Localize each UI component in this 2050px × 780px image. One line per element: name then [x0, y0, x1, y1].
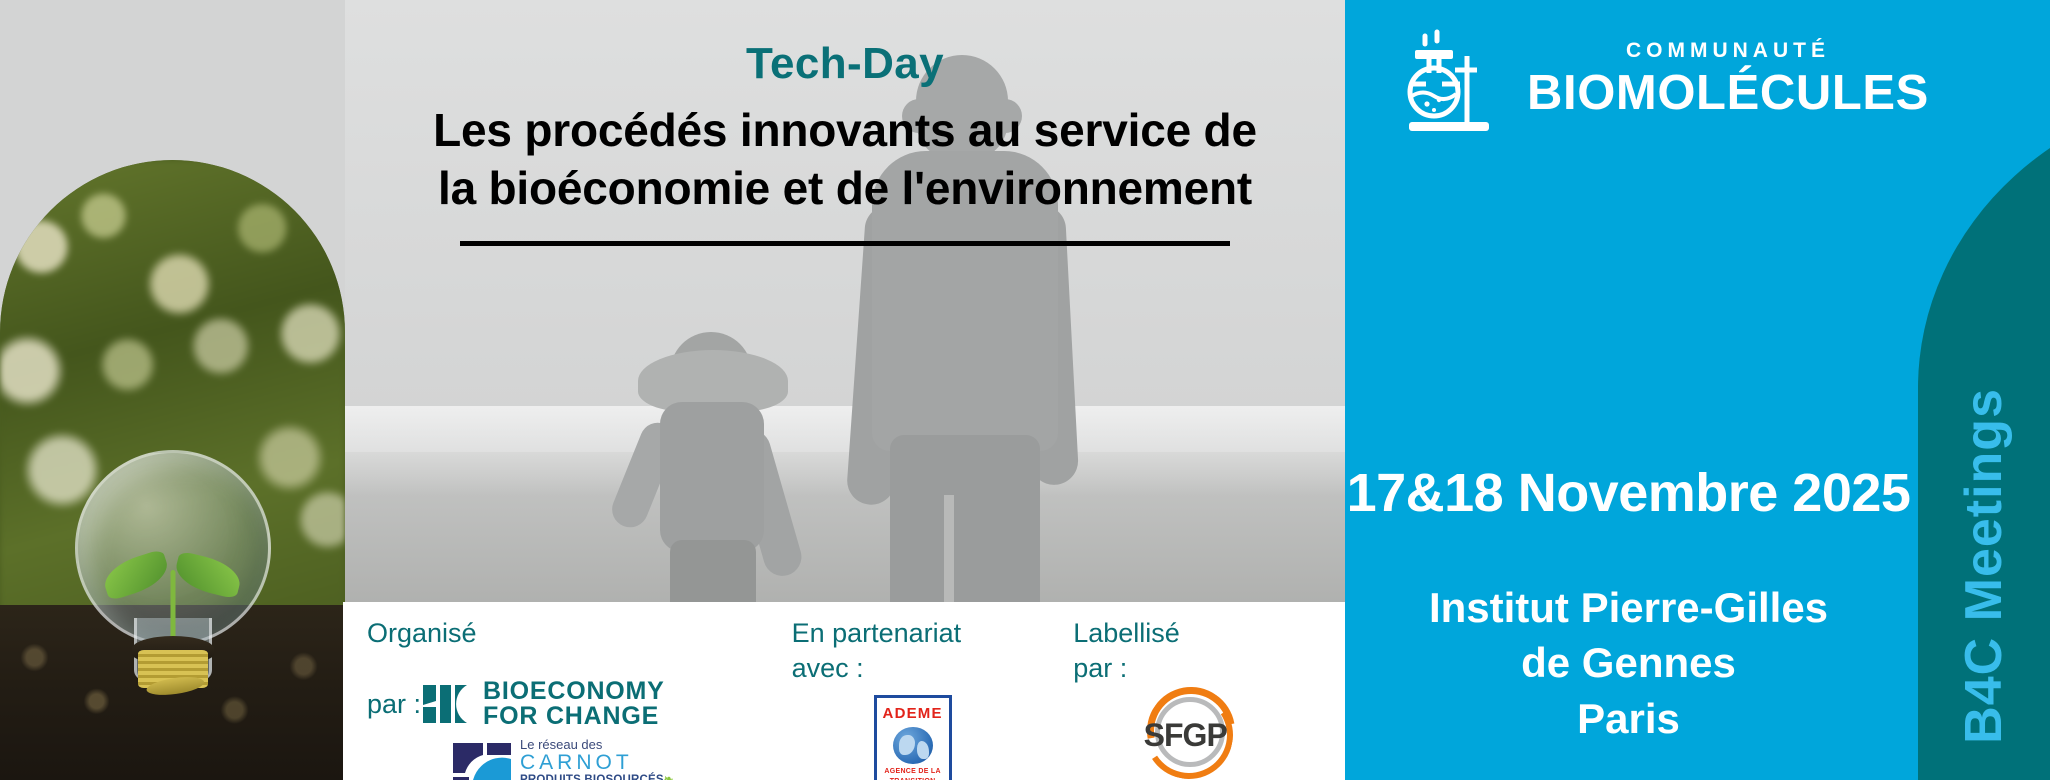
organiser-label-line1: Organisé — [367, 616, 674, 651]
page-title: Les procédés innovants au service de la … — [345, 102, 1345, 217]
partnership-label-line2: avec : — [792, 651, 864, 686]
ademe-title: ADEME — [883, 704, 943, 723]
leaf-icon: ❧ — [664, 774, 674, 780]
b4c-line-1: BIOECONOMY — [483, 679, 665, 705]
venue-line-3: Paris — [1345, 691, 1912, 746]
labelled-label-line1: Labellisé — [1073, 616, 1239, 651]
event-banner: Tech-Day Les procédés innovants au servi… — [0, 0, 2050, 780]
label-group: Labellisé par : SFGP — [1073, 602, 1239, 780]
community-name: BIOMOLÉCULES — [1527, 69, 1929, 118]
event-date: 17&18 Novembre 2025 — [1345, 462, 1912, 524]
carnot-logo: Le réseau des CARNOT PRODUITS BIOSOURCÉS… — [453, 738, 674, 780]
lab-flask-stand-icon — [1405, 26, 1497, 134]
ademe-logo: ADEME AGENCE DE LA TRANSITION ÉCOLOGIQUE — [874, 695, 952, 780]
carnot-line-3: PRODUITS BIOSOURCÉS❧ — [520, 774, 674, 780]
title-divider — [460, 241, 1230, 246]
partnership-group: En partenariat avec : ADEME AGENCE DE LA… — [792, 602, 962, 780]
sfgp-logo: SFGP — [1131, 681, 1239, 780]
community-eyebrow: COMMUNAUTÉ — [1527, 39, 1929, 63]
title-line-1: Les procédés innovants au service de — [345, 102, 1345, 160]
venue-line-1: Institut Pierre-Gilles — [1345, 580, 1912, 635]
globe-icon — [893, 727, 933, 765]
carnot-line-2: CARNOT — [520, 752, 674, 774]
lightbulb-graphic — [75, 450, 271, 700]
event-venue: Institut Pierre-Gilles de Gennes Paris — [1345, 580, 1912, 746]
title-line-2: la bioéconomie et de l'environnement — [345, 160, 1345, 218]
labelled-label: Labellisé par : SFGP — [1073, 602, 1239, 780]
organiser-label: Organisé par : BIOECONOMY — [367, 602, 674, 730]
b4c-wordmark: BIOECONOMY FOR CHANGE — [483, 679, 665, 730]
venue-line-2: de Gennes — [1345, 635, 1912, 690]
headline-block: Tech-Day Les procédés innovants au servi… — [345, 40, 1345, 246]
partnership-label: En partenariat avec : ADEME AGENCE DE LA… — [792, 602, 962, 780]
carnot-line-1: Le réseau des — [520, 738, 674, 753]
sfgp-wordmark: SFGP — [1131, 715, 1239, 756]
event-type-label: Tech-Day — [345, 40, 1345, 88]
b4c-line-2: FOR CHANGE — [483, 704, 665, 730]
labelled-label-line2: par : — [1073, 651, 1127, 686]
organiser-label-line2: par : — [367, 687, 421, 722]
b4c-mark-icon — [421, 681, 471, 727]
partner-logo-bar: Organisé par : BIOECONOMY — [343, 602, 1345, 780]
photo-haze — [345, 406, 1345, 496]
side-band-shape — [1918, 88, 2050, 780]
organiser-group: Organisé par : BIOECONOMY — [367, 602, 674, 780]
side-band — [1918, 0, 2050, 780]
partnership-label-line1: En partenariat — [792, 616, 962, 651]
carnot-mark-icon — [453, 743, 511, 780]
lightbulb-seedling-photo — [0, 160, 345, 780]
ademe-sub-1: AGENCE DE LA — [884, 767, 941, 776]
ademe-subtitle: AGENCE DE LA TRANSITION ÉCOLOGIQUE — [884, 767, 941, 780]
community-brand: COMMUNAUTÉ BIOMOLÉCULES — [1405, 26, 1929, 134]
